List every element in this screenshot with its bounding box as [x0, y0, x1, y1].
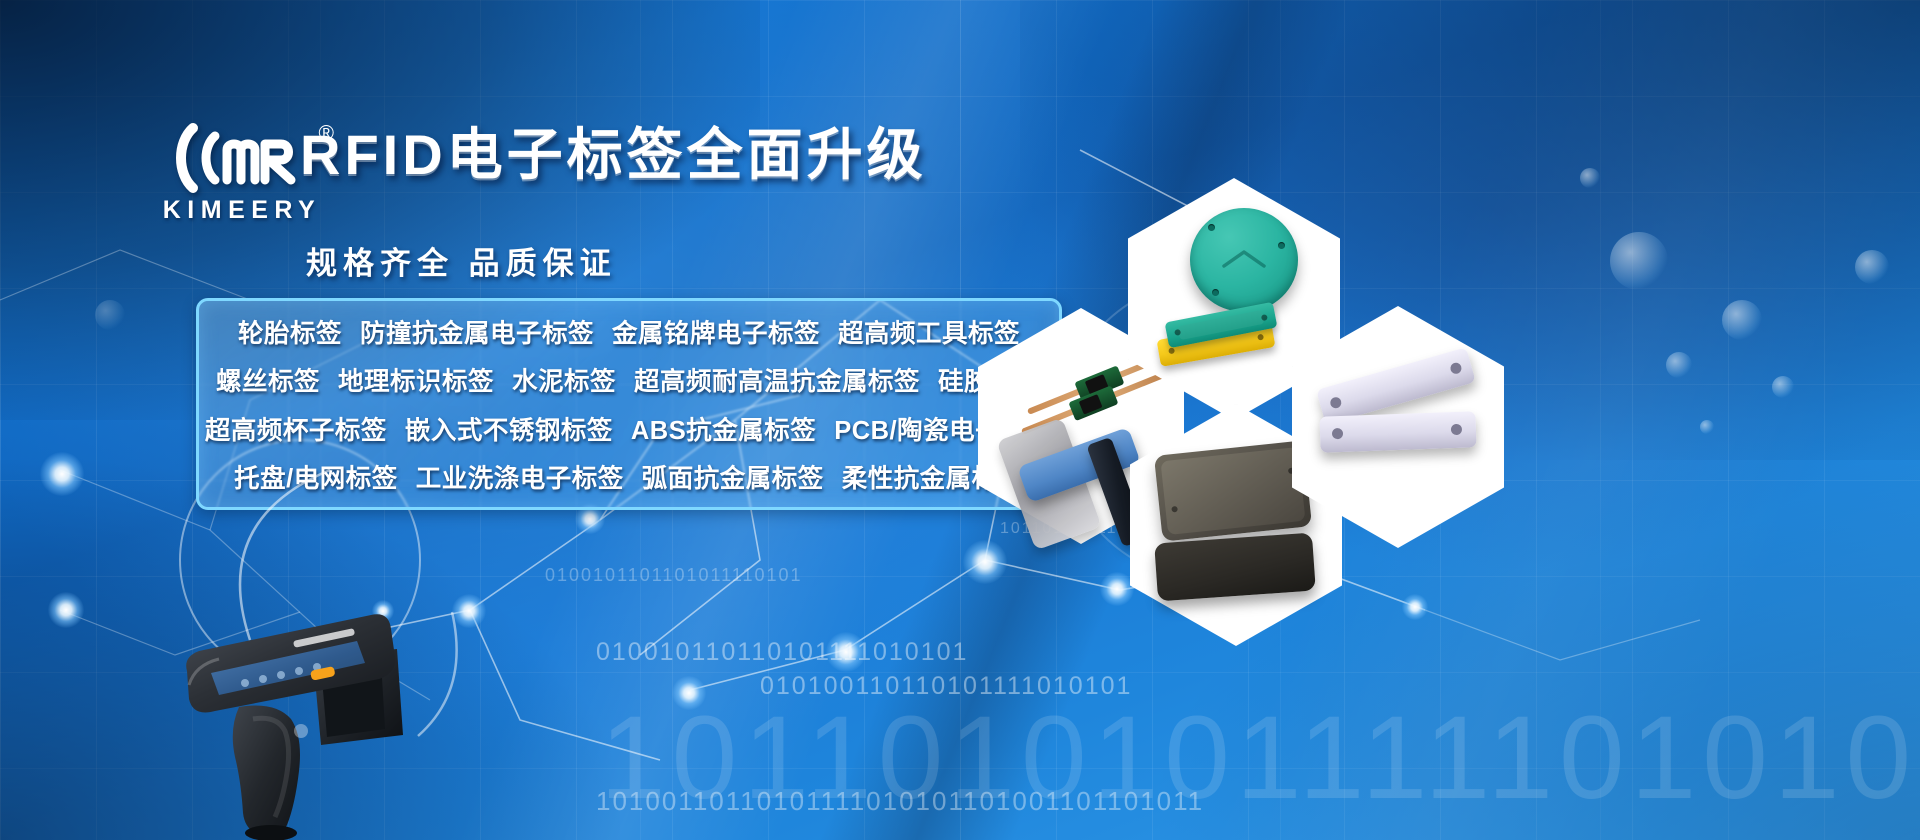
- tag-item: 金属铭牌电子标签: [612, 313, 820, 350]
- handheld-uhf-rfid-reader: [175, 595, 415, 840]
- page-subtitle: 规格齐全 品质保证: [306, 238, 617, 283]
- tag-row: 螺丝标签地理标识标签水泥标签超高频耐高温抗金属标签硅胶腕带: [199, 356, 1059, 405]
- glow-node: [1402, 594, 1428, 620]
- brand-name: KIMEERY: [140, 196, 340, 225]
- glow-node: [48, 592, 84, 628]
- binary-text: 10100110110101111010101101001101101011: [596, 786, 1204, 817]
- hex-content: [1292, 306, 1504, 548]
- bokeh-dot: [1610, 232, 1668, 290]
- brown-anti-metal-plate: [1154, 440, 1312, 541]
- product-art: [1162, 200, 1312, 400]
- tag-item: 轮胎标签: [238, 313, 342, 350]
- teal-round-tag: [1190, 208, 1298, 312]
- bokeh-dot: [1722, 300, 1762, 340]
- tag-row: 超高频杯子标签嵌入式不锈钢标签ABS抗金属标签PCB/陶瓷电子标签: [199, 404, 1059, 453]
- product-art: [1312, 356, 1486, 496]
- binary-text: 0100101101101011110101: [545, 565, 803, 586]
- tag-item: 工业洗涤电子标签: [416, 458, 624, 495]
- product-tag-list-panel: 轮胎标签防撞抗金属电子标签金属铭牌电子标签超高频工具标签 螺丝标签地理标识标签水…: [196, 298, 1062, 510]
- chevron-icon: [1221, 246, 1267, 274]
- glow-node: [963, 540, 1007, 584]
- tag-item: 超高频耐高温抗金属标签: [634, 361, 920, 398]
- tag-item: 水泥标签: [512, 361, 616, 398]
- glow-node: [40, 452, 84, 496]
- tag-item: 弧面抗金属标签: [642, 458, 824, 495]
- bokeh-dot: [1855, 250, 1889, 284]
- bokeh-dot: [1700, 420, 1714, 434]
- hex-white-rail-tags: [1292, 306, 1504, 548]
- white-rail-tag: [1319, 411, 1476, 452]
- rfid-promo-banner: 0100101101101011110101 1011010101101010 …: [0, 0, 1920, 840]
- glow-node: [1100, 572, 1134, 606]
- bokeh-dot: [1580, 168, 1600, 188]
- tag-row: 托盘/电网标签工业洗涤电子标签弧面抗金属标签柔性抗金属标签: [199, 453, 1059, 502]
- tag-item: 嵌入式不锈钢标签: [405, 410, 613, 447]
- page-title: RFID电子标签全面升级: [300, 110, 927, 191]
- binary-text: 010010110110101111010101: [596, 638, 968, 667]
- tag-item: 防撞抗金属电子标签: [360, 313, 594, 350]
- tag-item: 地理标识标签: [338, 361, 494, 398]
- tag-row: 轮胎标签防撞抗金属电子标签金属铭牌电子标签超高频工具标签: [199, 307, 1059, 356]
- tag-item: 螺丝标签: [216, 361, 320, 398]
- glow-node: [452, 594, 486, 628]
- bokeh-dot: [1666, 352, 1692, 378]
- tag-item: ABS抗金属标签: [631, 410, 816, 447]
- bokeh-dot: [1772, 376, 1794, 398]
- tag-item: 托盘/电网标签: [234, 458, 398, 495]
- tag-item: 超高频杯子标签: [205, 410, 387, 447]
- bokeh-dot: [95, 300, 125, 330]
